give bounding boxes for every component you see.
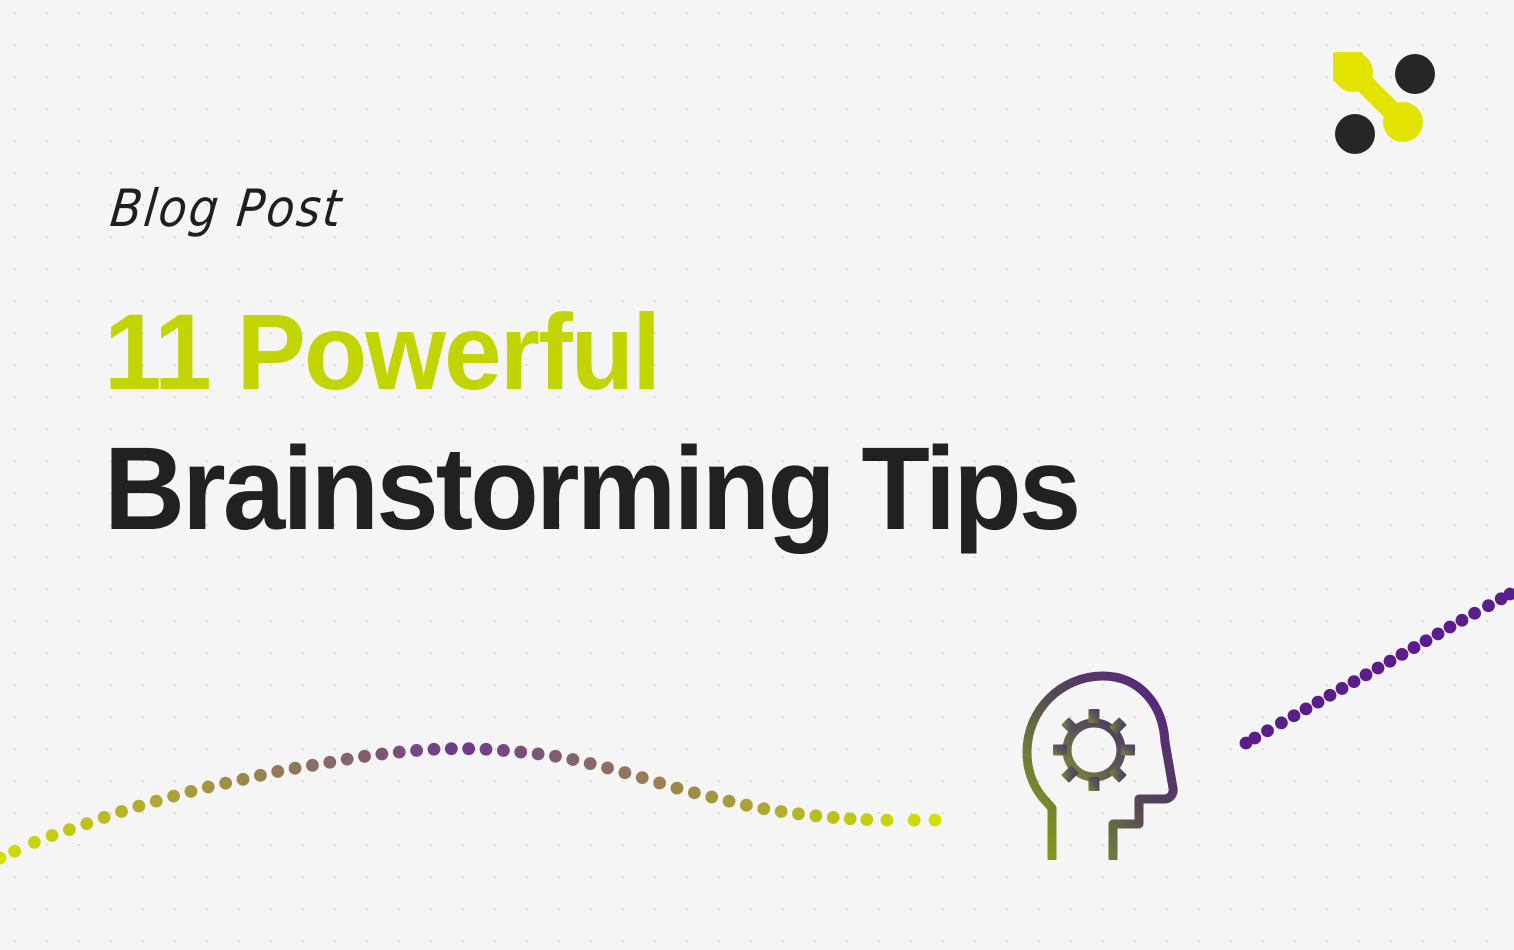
- plot-dot: [1468, 607, 1481, 620]
- plot-dot: [1504, 588, 1514, 601]
- plot-dot: [1420, 634, 1433, 647]
- plot-dot: [908, 814, 921, 827]
- headline-line-2: Brainstorming Tips: [104, 418, 1149, 562]
- rising-line-dots: [1240, 588, 1514, 750]
- plot-dot: [1240, 737, 1253, 750]
- plot-dot: [740, 799, 753, 812]
- plot-dot: [63, 823, 76, 836]
- plot-dot: [8, 845, 21, 858]
- plot-dot: [202, 781, 215, 794]
- plot-dot: [1396, 648, 1409, 661]
- plot-dot: [46, 829, 59, 842]
- plot-dot: [28, 836, 41, 849]
- plot-dot: [1372, 662, 1385, 675]
- plot-dot: [566, 753, 579, 766]
- plot-dot: [1444, 621, 1457, 634]
- plot-dot: [1495, 592, 1508, 605]
- plot-dot: [410, 744, 423, 757]
- plot-dot: [480, 743, 493, 756]
- plot-dot: [1312, 696, 1325, 709]
- plot-dot: [254, 769, 267, 782]
- plot-dot: [1360, 668, 1373, 681]
- plot-dot: [462, 742, 475, 755]
- plot-dot: [358, 750, 371, 763]
- plot-dot: [929, 814, 942, 827]
- plot-dot: [757, 802, 770, 815]
- plot-dot: [1288, 709, 1301, 722]
- plot-dot: [1482, 599, 1495, 612]
- plot-dot: [1384, 655, 1397, 668]
- plot-dot: [428, 743, 441, 756]
- plot-dot: [688, 786, 701, 799]
- plot-dot: [341, 753, 354, 766]
- plot-dot: [393, 746, 406, 759]
- plot-dot: [827, 811, 840, 824]
- plot-dot: [150, 795, 163, 808]
- plot-dot: [809, 809, 822, 822]
- plot-dot: [1432, 627, 1445, 640]
- plot-dot: [1300, 703, 1313, 716]
- plot-dot: [1336, 682, 1349, 695]
- plot-dot: [1261, 724, 1274, 737]
- plot-dot: [497, 744, 510, 757]
- plot-dot: [98, 811, 111, 824]
- plot-dot: [792, 807, 805, 820]
- plot-dot: [0, 852, 6, 865]
- plot-dot: [775, 805, 788, 818]
- eyebrow-label: Blog Post: [108, 182, 1209, 234]
- plot-dot: [601, 762, 614, 775]
- plot-dot: [115, 805, 128, 818]
- plot-dot: [653, 777, 666, 790]
- headline-line-1: 11 Powerful: [104, 286, 1160, 418]
- plot-dot: [549, 750, 562, 763]
- plot-dot: [1348, 675, 1361, 688]
- plot-dot: [219, 777, 232, 790]
- plot-dot: [860, 813, 873, 826]
- plot-dot: [185, 785, 198, 798]
- plot-dot: [705, 791, 718, 804]
- plot-dot: [80, 817, 93, 830]
- page-title: 11 Powerful Brainstorming Tips: [104, 286, 1204, 562]
- plot-dot: [271, 765, 284, 778]
- plot-dot: [844, 812, 857, 825]
- gear-shape: [1053, 709, 1135, 791]
- head-with-gear-icon: [1005, 660, 1205, 860]
- plot-dot: [323, 756, 336, 769]
- plot-dot: [167, 790, 180, 803]
- plot-dot: [671, 782, 684, 795]
- plot-dot: [237, 773, 250, 786]
- plot-dot: [636, 771, 649, 784]
- plot-dot: [1324, 689, 1337, 702]
- plot-dot: [723, 795, 736, 808]
- plot-dot: [1408, 641, 1421, 654]
- plot-dot: [1248, 732, 1261, 745]
- plot-dot: [445, 742, 458, 755]
- plot-dot: [584, 757, 597, 770]
- plot-dot: [375, 748, 388, 761]
- plot-dot: [289, 762, 302, 775]
- plot-dot: [1456, 614, 1469, 627]
- plot-dot: [532, 748, 545, 761]
- plot-dot: [132, 800, 145, 813]
- plot-dot: [514, 746, 527, 759]
- brand-logo[interactable]: [1333, 52, 1437, 156]
- text-block: Blog Post 11 Powerful Brainstorming Tips: [104, 188, 1204, 562]
- plot-dot: [881, 814, 894, 827]
- plot-dot: [619, 766, 632, 779]
- plot-dot: [1275, 716, 1288, 729]
- blog-post-cover: Blog Post 11 Powerful Brainstorming Tips: [0, 0, 1514, 950]
- hill-curve-dots: [0, 742, 941, 864]
- plot-dot: [306, 759, 319, 772]
